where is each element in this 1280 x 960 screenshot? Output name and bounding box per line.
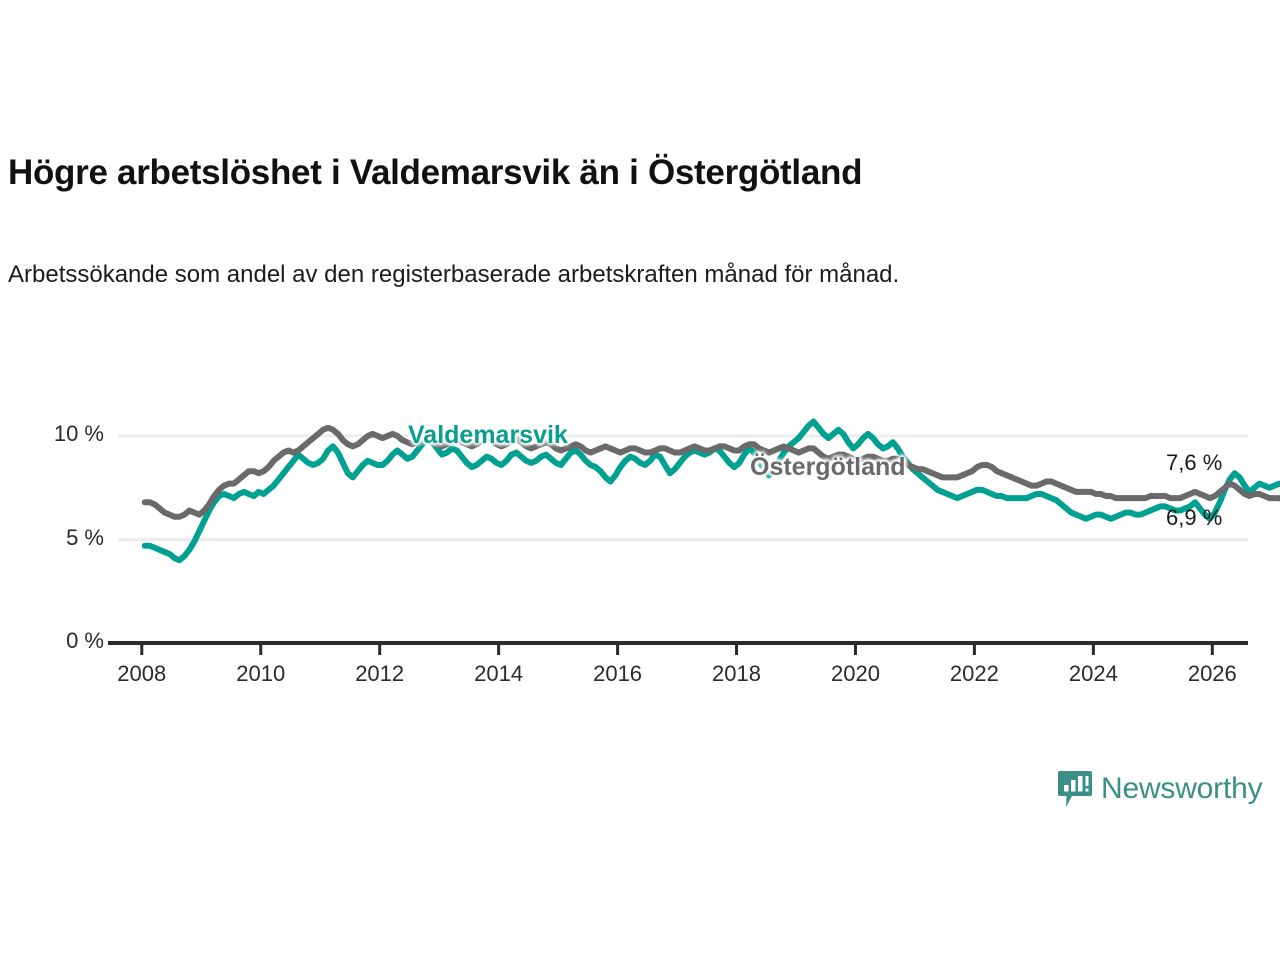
series-label-valdemarsvik-text: Valdemarsvik: [408, 421, 568, 449]
newsworthy-logo: Newsworthy: [1058, 770, 1262, 808]
x-tick-label-2016: 2016: [573, 661, 663, 687]
page-title: Högre arbetslöshet i Valdemarsvik än i Ö…: [8, 152, 1258, 194]
series-line-östergötland: [145, 428, 1280, 517]
series-label-valdemarsvik: Valdemarsvik: [408, 421, 568, 450]
x-tick-label-2018: 2018: [692, 661, 782, 687]
bar-chart-speech-bubble-icon: [1058, 770, 1092, 808]
chart-area: [0, 400, 1280, 700]
end-value-valdemarsvik: 7,6 %: [1166, 450, 1222, 476]
logo-text: Newsworthy: [1101, 772, 1262, 806]
series-label-ostergotland-text: Östergötland: [750, 453, 906, 481]
y-tick-label-10: 10 %: [14, 421, 104, 447]
end-value-ostergotland: 6,9 %: [1166, 505, 1222, 531]
x-tick-label-2014: 2014: [454, 661, 544, 687]
line-chart-svg: [0, 400, 1280, 700]
y-tick-label-5: 5 %: [14, 525, 104, 551]
x-tick-label-2020: 2020: [810, 661, 900, 687]
x-tick-label-2008: 2008: [97, 661, 187, 687]
page-subtitle: Arbetssökande som andel av den registerb…: [8, 258, 1188, 291]
x-tick-label-2026: 2026: [1167, 661, 1257, 687]
x-tick-label-2012: 2012: [335, 661, 425, 687]
x-tick-label-2022: 2022: [929, 661, 1019, 687]
chart-page: Högre arbetslöshet i Valdemarsvik än i Ö…: [0, 0, 1280, 960]
x-tick-label-2024: 2024: [1048, 661, 1138, 687]
x-tick-label-2010: 2010: [216, 661, 306, 687]
y-tick-label-0: 0 %: [14, 628, 104, 654]
series-label-ostergotland: Östergötland: [750, 453, 906, 482]
